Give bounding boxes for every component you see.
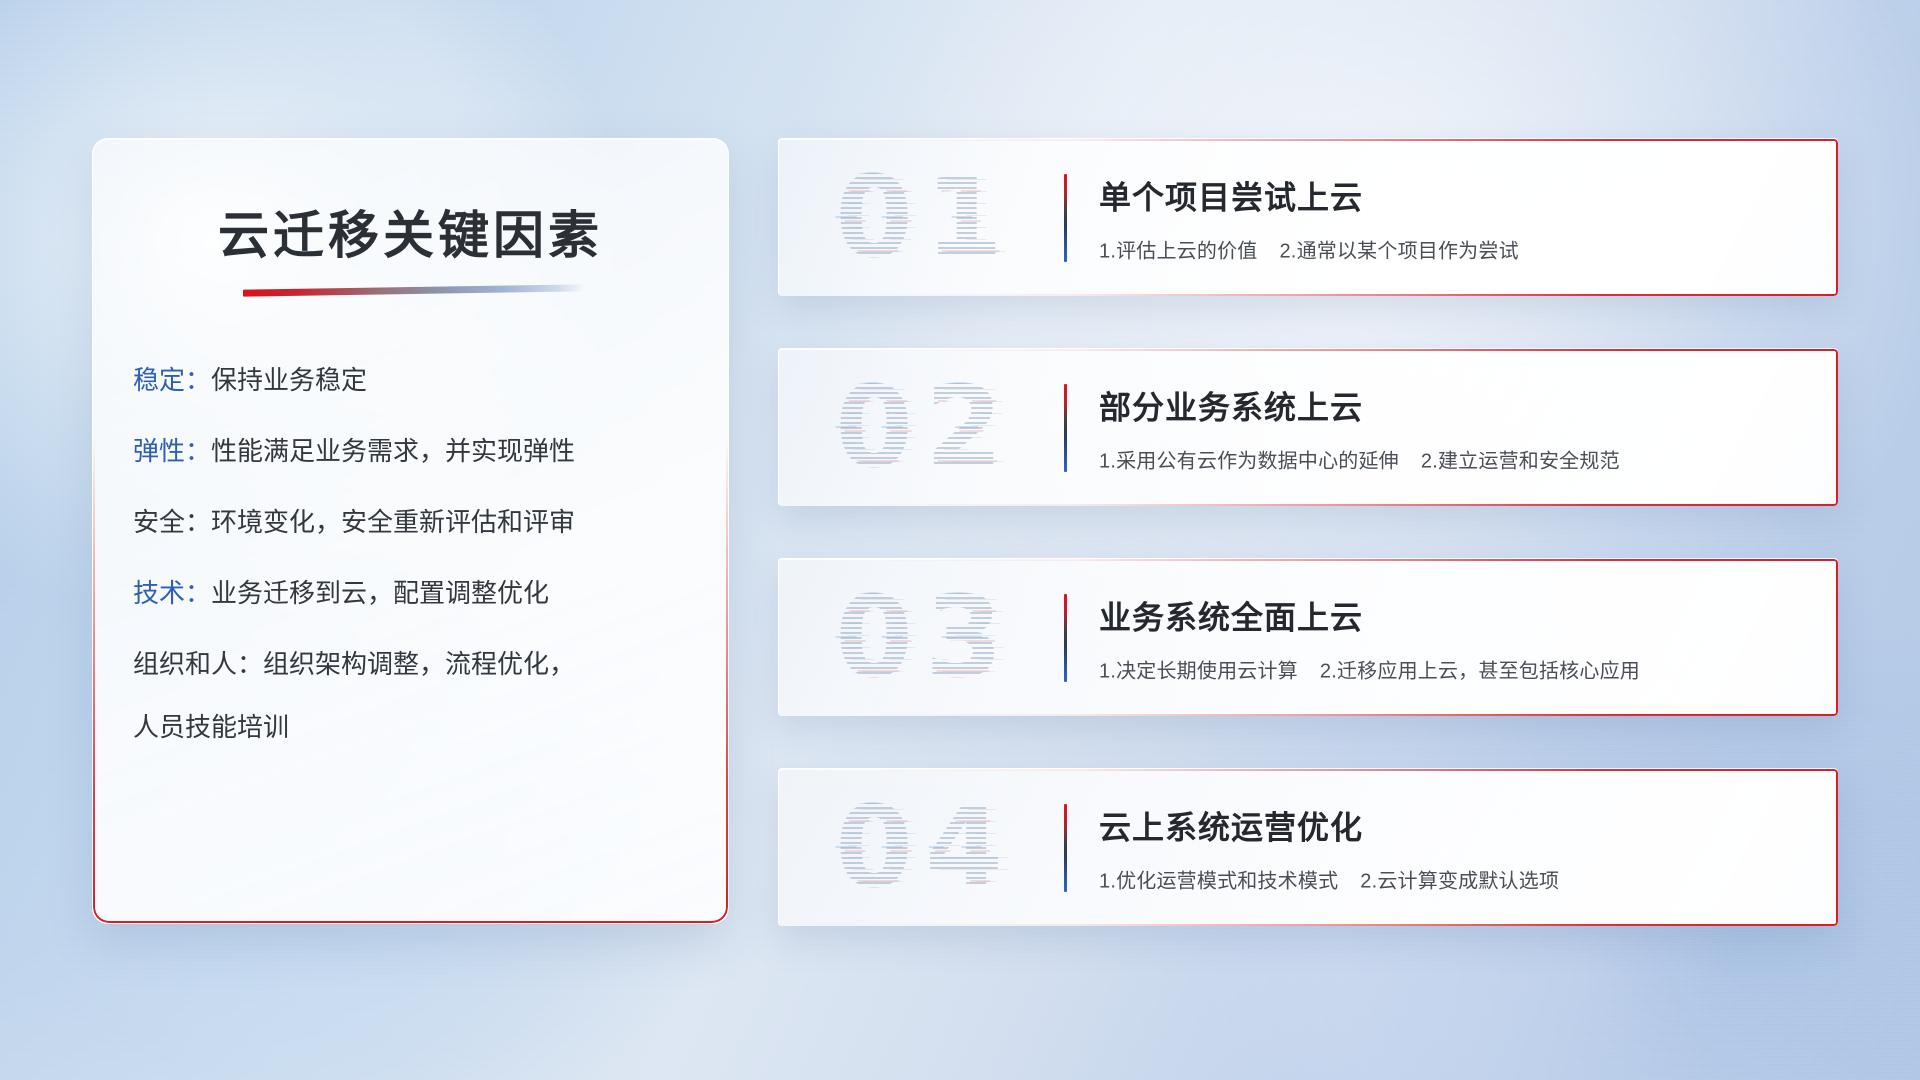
list-item: 安全：环境变化，安全重新评估和评审 — [133, 509, 702, 535]
list-item-key: 弹性： — [133, 436, 211, 466]
stage-number-red-layer: 04 — [809, 782, 1049, 914]
stage-text-block: 业务系统全面上云 1.决定长期使用云计算2.迁移应用上云，甚至包括核心应用 — [1099, 592, 1814, 683]
stage-desc-part-2: 2.迁移应用上云，甚至包括核心应用 — [1320, 660, 1640, 682]
stage-desc-part-2: 2.建立运营和安全规范 — [1421, 450, 1620, 472]
stage-number-smear-layer: 04 — [812, 782, 1057, 914]
stage-number-main-layer: 01 — [805, 152, 1045, 284]
stage-number-main-layer: 02 — [805, 362, 1045, 494]
key-factors-title: 云迁移关键因素 — [93, 194, 728, 268]
list-item-value: 组织架构调整，流程优化， — [263, 649, 575, 679]
stage-desc-part-2: 2.通常以某个项目作为尝试 — [1279, 240, 1518, 262]
list-item-key: 稳定： — [133, 365, 211, 395]
stage-number-02-glitch: 02 02 02 02 — [805, 362, 1045, 494]
stage-number-smear-layer: 01 — [812, 152, 1057, 284]
list-item-value: 环境变化，安全重新评估和评审 — [211, 507, 575, 537]
stage-title: 云上系统运营优化 — [1099, 802, 1814, 848]
stage-number-04-glitch: 04 04 04 04 — [805, 782, 1045, 914]
list-item: 稳定：保持业务稳定 — [133, 367, 702, 393]
stage-divider-bar — [1064, 804, 1067, 892]
stage-number-blue-layer: 04 — [800, 782, 1040, 914]
stage-title: 部分业务系统上云 — [1099, 382, 1814, 428]
stage-card-02[interactable]: 02 02 02 02 部分业务系统上云 1.采用公有云作为数据中心的延伸2.建… — [778, 348, 1838, 506]
stage-number-main-layer: 04 — [805, 782, 1045, 914]
migration-stages-list: 01 01 01 01 单个项目尝试上云 1.评估上云的价值2.通常以某个项目作… — [778, 138, 1838, 926]
stage-desc-part-1: 1.采用公有云作为数据中心的延伸 — [1099, 450, 1399, 472]
stage-divider-bar — [1064, 384, 1067, 472]
stage-number-03-glitch: 03 03 03 03 — [805, 572, 1045, 704]
stage-description: 1.采用公有云作为数据中心的延伸2.建立运营和安全规范 — [1099, 444, 1814, 473]
list-item-value: 人员技能培训 — [133, 712, 289, 742]
slide-canvas: 云迁移关键因素 稳定：保持业务稳定 弹性：性能满足业务需求，并实现弹性 安全：环… — [0, 0, 1920, 1080]
stage-desc-part-1: 1.决定长期使用云计算 — [1099, 660, 1298, 682]
stage-number-blue-layer: 02 — [800, 362, 1040, 494]
stage-text-block: 部分业务系统上云 1.采用公有云作为数据中心的延伸2.建立运营和安全规范 — [1099, 382, 1814, 473]
stage-desc-part-2: 2.云计算变成默认选项 — [1360, 870, 1559, 892]
key-factors-card: 云迁移关键因素 稳定：保持业务稳定 弹性：性能满足业务需求，并实现弹性 安全：环… — [92, 138, 729, 924]
list-item: 技术：业务迁移到云，配置调整优化 — [133, 580, 702, 606]
stage-number-main-layer: 03 — [805, 572, 1045, 704]
stage-description: 1.决定长期使用云计算2.迁移应用上云，甚至包括核心应用 — [1099, 654, 1814, 683]
list-item-key: 技术： — [133, 578, 211, 608]
stage-card-04[interactable]: 04 04 04 04 云上系统运营优化 1.优化运营模式和技术模式2.云计算变… — [778, 768, 1838, 926]
stage-number-01-glitch: 01 01 01 01 — [805, 152, 1045, 284]
list-item-key: 组织和人： — [133, 649, 263, 679]
stage-text-block: 单个项目尝试上云 1.评估上云的价值2.通常以某个项目作为尝试 — [1099, 172, 1814, 263]
stage-desc-part-1: 1.评估上云的价值 — [1099, 240, 1257, 262]
stage-number-red-layer: 03 — [809, 572, 1049, 704]
list-item-key: 安全： — [133, 507, 211, 537]
stage-divider-bar — [1064, 174, 1067, 262]
stage-number-smear-layer: 02 — [812, 362, 1057, 494]
stage-desc-part-1: 1.优化运营模式和技术模式 — [1099, 870, 1338, 892]
stage-card-01[interactable]: 01 01 01 01 单个项目尝试上云 1.评估上云的价值2.通常以某个项目作… — [778, 138, 1838, 296]
list-item-value: 保持业务稳定 — [211, 365, 367, 395]
stage-text-block: 云上系统运营优化 1.优化运营模式和技术模式2.云计算变成默认选项 — [1099, 802, 1814, 893]
key-factors-list: 稳定：保持业务稳定 弹性：性能满足业务需求，并实现弹性 安全：环境变化，安全重新… — [133, 367, 702, 740]
title-underline-gradient — [243, 284, 585, 296]
stage-card-03[interactable]: 03 03 03 03 业务系统全面上云 1.决定长期使用云计算2.迁移应用上云… — [778, 558, 1838, 716]
stage-number-red-layer: 02 — [809, 362, 1049, 494]
list-item-continuation: 人员技能培训 — [133, 714, 702, 740]
stage-number-red-layer: 01 — [809, 152, 1049, 284]
stage-description: 1.优化运营模式和技术模式2.云计算变成默认选项 — [1099, 864, 1814, 893]
stage-number-blue-layer: 01 — [800, 152, 1040, 284]
stage-number-blue-layer: 03 — [800, 572, 1040, 704]
stage-description: 1.评估上云的价值2.通常以某个项目作为尝试 — [1099, 234, 1814, 263]
stage-divider-bar — [1064, 594, 1067, 682]
stage-title: 业务系统全面上云 — [1099, 592, 1814, 638]
list-item: 弹性：性能满足业务需求，并实现弹性 — [133, 438, 702, 464]
list-item-value: 性能满足业务需求，并实现弹性 — [211, 436, 575, 466]
stage-title: 单个项目尝试上云 — [1099, 172, 1814, 218]
list-item-value: 业务迁移到云，配置调整优化 — [211, 578, 549, 608]
stage-number-smear-layer: 03 — [812, 572, 1057, 704]
list-item: 组织和人：组织架构调整，流程优化， — [133, 651, 702, 677]
